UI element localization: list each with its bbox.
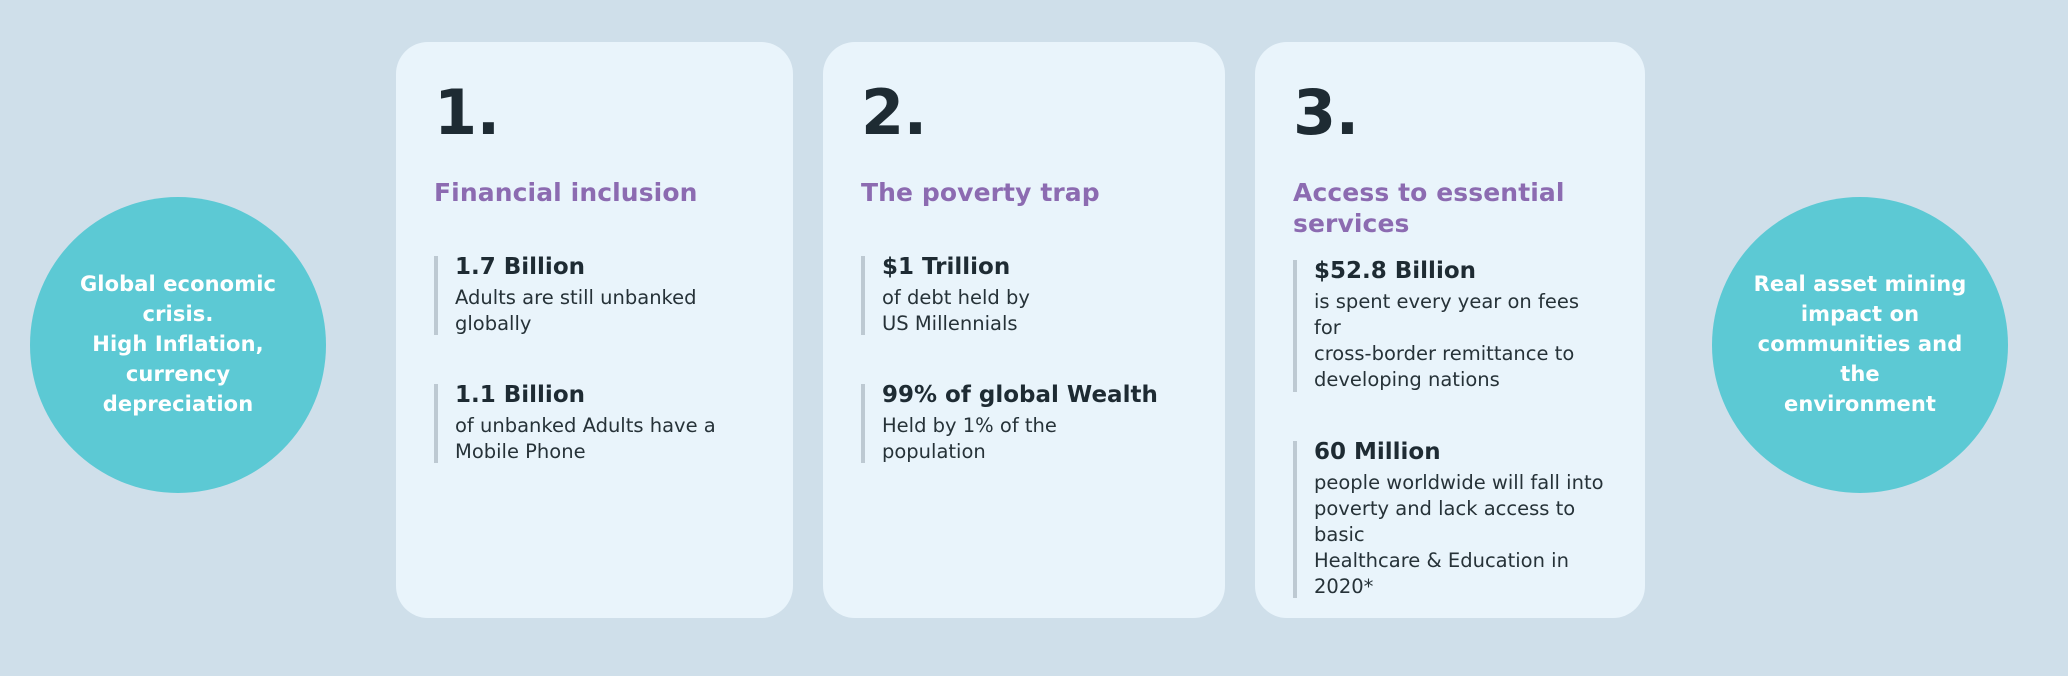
card-number: 1. — [434, 82, 755, 144]
stat-accent-bar — [1293, 260, 1297, 392]
card-title: Financial inclusion — [434, 178, 755, 209]
stat-item: 1.1 Billion of unbanked Adults have a Mo… — [434, 381, 755, 465]
card-title: Access to essential services — [1293, 178, 1607, 239]
stat-description: people worldwide will fall into poverty … — [1314, 470, 1607, 601]
stat-description: is spent every year on fees for cross-bo… — [1314, 289, 1607, 394]
card-number: 2. — [861, 82, 1187, 144]
left-context-circle: Global economic crisis. High Inflation, … — [30, 197, 326, 493]
stat-list: $52.8 Billion is spent every year on fee… — [1293, 257, 1607, 600]
infographic-canvas: Global economic crisis. High Inflation, … — [0, 0, 2068, 676]
stat-value: 99% of global Wealth — [882, 381, 1187, 409]
stat-item: $52.8 Billion is spent every year on fee… — [1293, 257, 1607, 394]
stat-value: 1.7 Billion — [455, 253, 755, 281]
stat-list: 1.7 Billion Adults are still unbanked gl… — [434, 253, 755, 466]
right-context-circle: Real asset mining impact on communities … — [1712, 197, 2008, 493]
stat-value: $52.8 Billion — [1314, 257, 1607, 285]
card-number: 3. — [1293, 82, 1607, 144]
card-title: The poverty trap — [861, 178, 1187, 209]
stat-description: of debt held by US Millennials — [882, 285, 1187, 337]
stat-item: 99% of global Wealth Held by 1% of the p… — [861, 381, 1187, 465]
card-financial-inclusion: 1. Financial inclusion 1.7 Billion Adult… — [396, 42, 793, 618]
stat-value: 60 Million — [1314, 438, 1607, 466]
card-poverty-trap: 2. The poverty trap $1 Trillion of debt … — [823, 42, 1225, 618]
stat-accent-bar — [861, 384, 865, 463]
stat-value: $1 Trillion — [882, 253, 1187, 281]
stat-accent-bar — [1293, 441, 1297, 599]
stat-item: $1 Trillion of debt held by US Millennia… — [861, 253, 1187, 337]
card-access-essential-services: 3. Access to essential services $52.8 Bi… — [1255, 42, 1645, 618]
stat-value: 1.1 Billion — [455, 381, 755, 409]
right-context-circle-text: Real asset mining impact on communities … — [1738, 270, 1982, 419]
stat-accent-bar — [434, 384, 438, 463]
stat-item: 1.7 Billion Adults are still unbanked gl… — [434, 253, 755, 337]
left-context-circle-text: Global economic crisis. High Inflation, … — [56, 270, 300, 419]
stat-description: Adults are still unbanked globally — [455, 285, 755, 337]
stat-accent-bar — [434, 256, 438, 335]
stat-accent-bar — [861, 256, 865, 335]
stat-description: of unbanked Adults have a Mobile Phone — [455, 413, 755, 465]
stat-description: Held by 1% of the population — [882, 413, 1187, 465]
stat-list: $1 Trillion of debt held by US Millennia… — [861, 253, 1187, 466]
stat-item: 60 Million people worldwide will fall in… — [1293, 438, 1607, 601]
statistics-card-row: 1. Financial inclusion 1.7 Billion Adult… — [396, 42, 1645, 618]
